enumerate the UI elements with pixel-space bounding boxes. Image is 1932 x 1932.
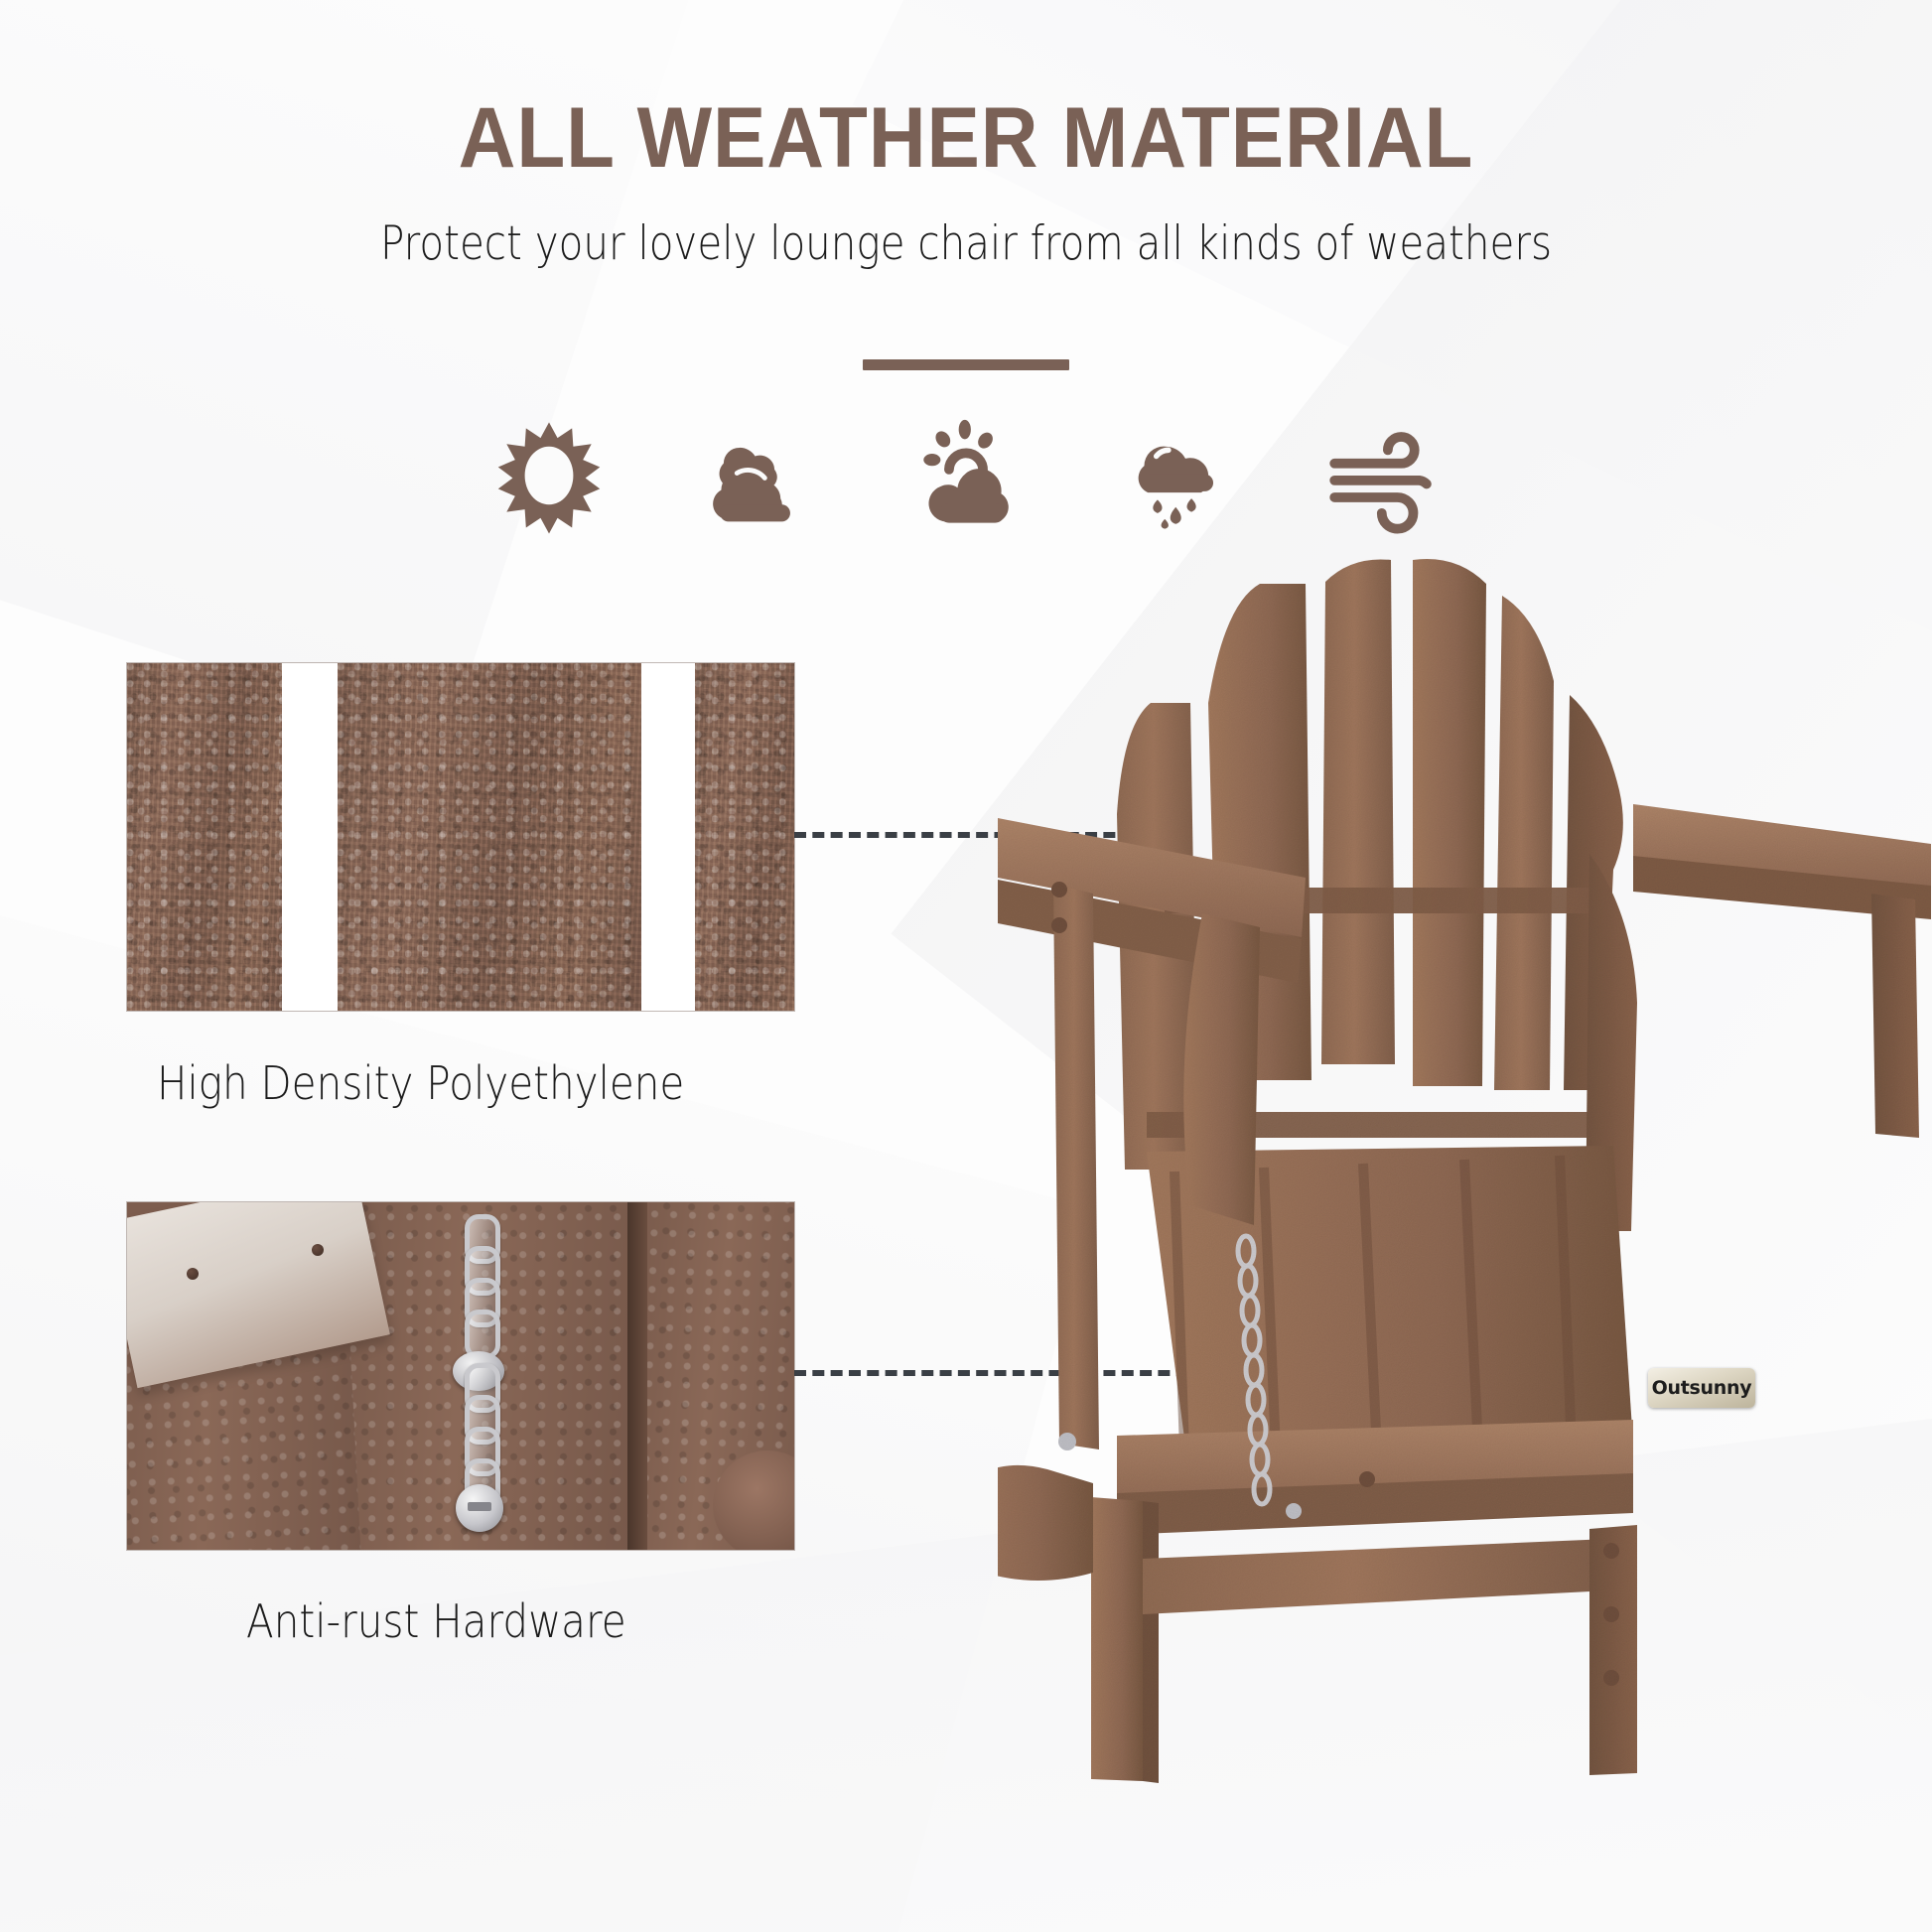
chain-hardware-closeup — [127, 1202, 794, 1550]
slat-texture — [127, 663, 794, 1011]
hdpe-texture-closeup — [127, 663, 794, 1011]
partly-cloudy-icon — [901, 415, 1031, 536]
screw-hole — [312, 1244, 324, 1256]
chain — [461, 1214, 494, 1512]
infographic-canvas: ALL WEATHER MATERIAL Protect your lovely… — [0, 0, 1932, 1932]
page-subtitle: Protect your lovely lounge chair from al… — [135, 181, 1797, 267]
board-gap — [627, 1202, 647, 1550]
hardware-photo — [127, 1202, 794, 1550]
brand-plate: Outsunny — [1648, 1368, 1755, 1408]
wind-icon — [1318, 415, 1448, 536]
screw-head — [456, 1484, 503, 1532]
adirondack-chair-illustration — [998, 556, 1932, 1787]
brand-name: Outsunny — [1652, 1377, 1752, 1399]
header: ALL WEATHER MATERIAL Protect your lovely… — [0, 0, 1932, 267]
weather-icon-row — [0, 415, 1932, 536]
feature-caption-hardware: Anti-rust Hardware — [246, 1598, 626, 1644]
texture-slat — [127, 663, 282, 1011]
rain-cloud-icon — [1110, 415, 1239, 536]
screw-hole — [187, 1268, 199, 1280]
feature-caption-hdpe: High Density Polyethylene — [157, 1060, 684, 1106]
sun-icon — [484, 415, 614, 536]
texture-slat — [338, 663, 641, 1011]
cloudy-icon — [693, 415, 822, 536]
texture-slat — [695, 663, 794, 1011]
page-title: ALL WEATHER MATERIAL — [68, 0, 1864, 181]
header-divider — [863, 359, 1069, 370]
